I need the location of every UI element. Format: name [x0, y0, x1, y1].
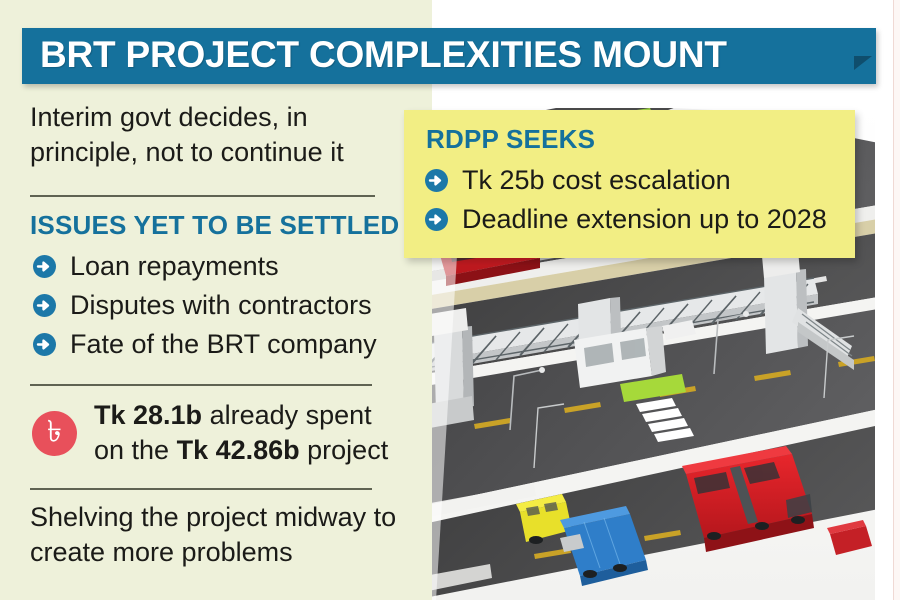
issues-heading: ISSUES YET TO BE SETTLED — [30, 210, 399, 241]
list-item: Disputes with contractors — [32, 287, 422, 323]
issues-item-label: Disputes with contractors — [70, 292, 372, 319]
divider-1 — [30, 195, 375, 197]
brt-corridor-photo — [432, 0, 875, 600]
taka-symbol: ৳ — [32, 417, 77, 447]
spend-text: Tk 28.1b already spent on the Tk 42.86b … — [94, 398, 388, 468]
spend-amount-spent: Tk 28.1b — [94, 400, 202, 430]
footer-note: Shelving the project midway to create mo… — [30, 500, 410, 569]
issues-list: Loan repayments Disputes with contractor… — [32, 248, 422, 365]
list-item: Loan repayments — [32, 248, 422, 284]
page-title: BRT PROJECT COMPLEXITIES MOUNT — [40, 34, 727, 76]
list-item: Deadline extension up to 2028 — [424, 201, 849, 237]
taka-currency-icon: ৳ — [32, 411, 77, 456]
issues-item-label: Loan repayments — [70, 253, 279, 280]
spend-total-amount: Tk 42.86b — [177, 435, 300, 465]
header-banner: BRT PROJECT COMPLEXITIES MOUNT — [22, 28, 876, 84]
rdpp-callout: RDPP SEEKS Tk 25b cost escalation — [404, 110, 855, 258]
rdpp-item-label: Deadline extension up to 2028 — [462, 206, 827, 233]
arrow-circle-right-icon — [424, 207, 449, 232]
divider-3 — [30, 488, 372, 490]
divider-2 — [30, 384, 372, 386]
lead-statement: Interim govt decides, in principle, not … — [30, 100, 390, 169]
spend-line2-pre: on the — [94, 435, 177, 465]
spend-line2-post: project — [300, 435, 389, 465]
list-item: Tk 25b cost escalation — [424, 162, 849, 198]
right-border-rule — [893, 0, 894, 600]
issues-item-label: Fate of the BRT company — [70, 331, 377, 358]
spend-summary: ৳ Tk 28.1b already spent on the Tk 42.86… — [32, 398, 432, 468]
list-item: Fate of the BRT company — [32, 326, 422, 362]
arrow-circle-right-icon — [424, 168, 449, 193]
spend-line1-rest: already spent — [202, 400, 372, 430]
rdpp-list: Tk 25b cost escalation Deadline extensio… — [424, 162, 849, 240]
arrow-circle-right-icon — [32, 254, 57, 279]
rdpp-heading: RDPP SEEKS — [426, 124, 595, 155]
arrow-circle-right-icon — [32, 332, 57, 357]
right-margin-pad — [894, 0, 900, 600]
arrow-circle-right-icon — [32, 293, 57, 318]
banner-fold-decoration — [854, 56, 872, 70]
infographic-root: BRT PROJECT COMPLEXITIES MOUNT Interim g… — [0, 0, 900, 600]
rdpp-item-label: Tk 25b cost escalation — [462, 167, 731, 194]
